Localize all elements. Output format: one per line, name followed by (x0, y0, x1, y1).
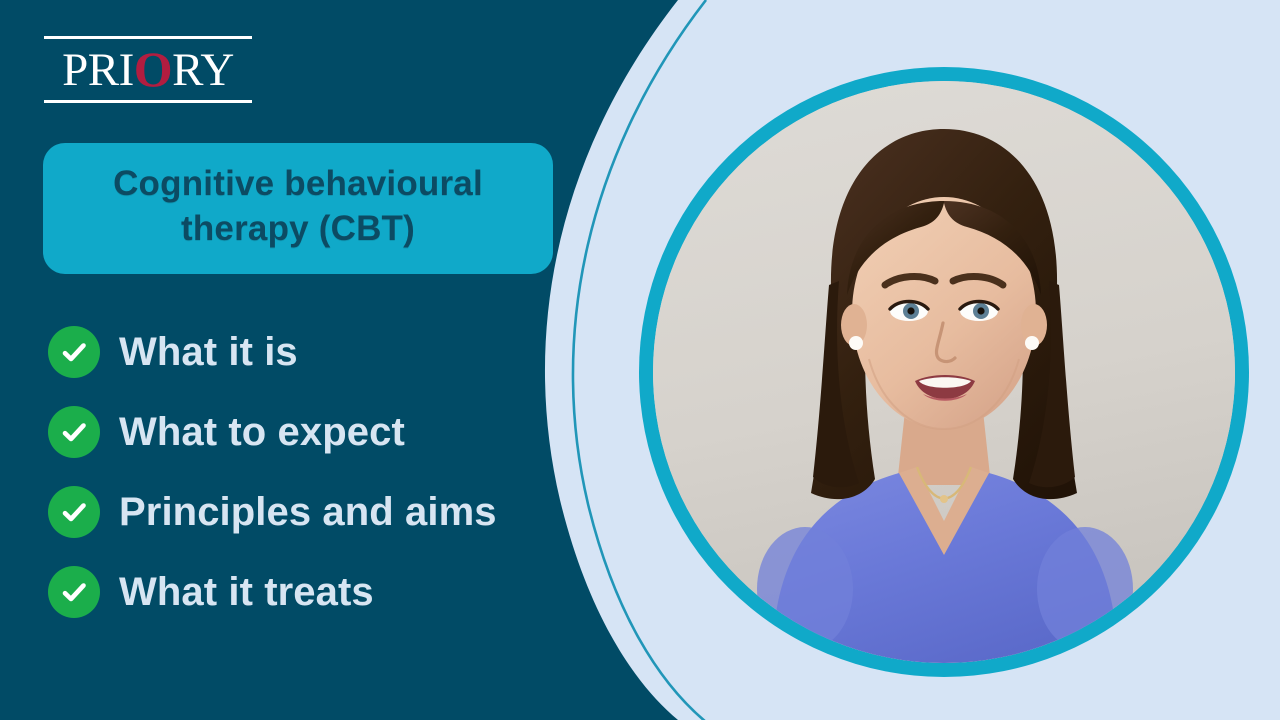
checklist-item-label: What to expect (119, 412, 405, 452)
check-circle-icon (48, 406, 100, 458)
list-item: What it is (48, 312, 658, 392)
checklist-item-label: Principles and aims (119, 492, 497, 532)
checklist: What it is What to expect Principles and… (48, 312, 658, 632)
checklist-item-label: What it is (119, 332, 298, 372)
left-panel-content: PRIORY Cognitive behavioural therapy (CB… (0, 0, 660, 720)
presenter-portrait-image (653, 81, 1235, 663)
list-item: What it treats (48, 552, 658, 632)
logo-rule-bottom (44, 100, 252, 103)
logo-accent-letter: O (134, 41, 172, 97)
check-circle-icon (48, 566, 100, 618)
logo-rule-top (44, 36, 252, 39)
title-card: Cognitive behavioural therapy (CBT) (43, 143, 553, 274)
video-slide: PRIORY Cognitive behavioural therapy (CB… (0, 0, 1280, 720)
presenter-portrait-frame (639, 67, 1249, 677)
title-card-text: Cognitive behavioural therapy (CBT) (113, 162, 483, 252)
check-circle-icon (48, 486, 100, 538)
checklist-item-label: What it treats (119, 572, 374, 612)
check-circle-icon (48, 326, 100, 378)
list-item: Principles and aims (48, 472, 658, 552)
title-line-1: Cognitive behavioural (113, 164, 483, 203)
logo-text: PRIORY (62, 43, 234, 94)
title-line-2: therapy (CBT) (181, 209, 415, 248)
list-item: What to expect (48, 392, 658, 472)
logo-wordmark: PRIORY (44, 40, 252, 96)
priory-logo: PRIORY (44, 36, 252, 104)
presenter-portrait-mask (653, 81, 1235, 663)
